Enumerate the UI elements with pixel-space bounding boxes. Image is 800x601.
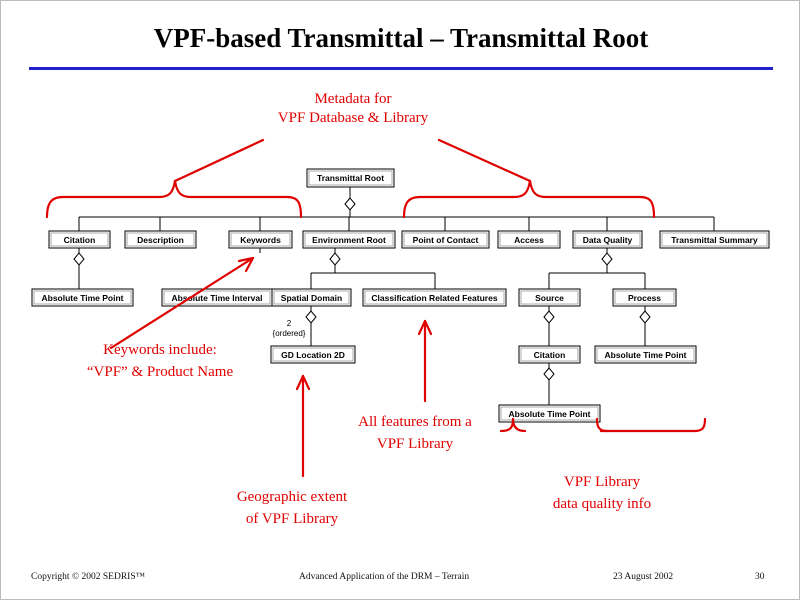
class-box-label: Citation [534,350,566,360]
class-box-label: Citation [64,235,96,245]
multiplicity-constraint: {ordered} [273,329,306,338]
annotation-features-line2: VPF Library [377,436,454,452]
uml-class-diagram: Transmittal Root Citation Description Ke… [1,1,800,601]
annotation-metadata-line1: Metadata for [314,91,391,107]
class-box-absolute-time-point-1[interactable]: Absolute Time Point [32,289,133,306]
footer-center-text: Advanced Application of the DRM – Terrai… [299,572,469,582]
class-box-point-of-contact[interactable]: Point of Contact [402,231,489,248]
footer-copyright: Copyright © 2002 SEDRIS™ [31,572,145,582]
class-box-label: Absolute Time Point [604,350,686,360]
class-box-label: Process [628,293,661,303]
class-box-data-quality[interactable]: Data Quality [573,231,642,248]
class-box-label: Keywords [240,235,281,245]
multiplicity-count: 2 [287,319,292,328]
footer-page-number: 30 [755,572,765,582]
annotation-dataquality-line1: VPF Library [564,474,641,490]
class-box-citation-lower[interactable]: Citation [519,346,580,363]
class-box-label: Environment Root [312,235,386,245]
slide-canvas: VPF-based Transmittal – Transmittal Root [1,1,800,601]
class-box-label: Classification Related Features [371,293,497,303]
class-box-gd-location-2d[interactable]: GD Location 2D [271,346,355,363]
annotation-metadata-line2: VPF Database & Library [278,110,429,126]
class-box-label: Absolute Time Point [508,409,590,419]
class-box-absolute-time-point-3[interactable]: Absolute Time Point [499,405,600,422]
annotation-geographic-line2: of VPF Library [246,511,339,527]
class-box-label: Description [137,235,184,245]
class-box-label: Spatial Domain [281,293,342,303]
class-box-description[interactable]: Description [125,231,196,248]
annotation-features-line1: All features from a [358,414,472,430]
class-box-absolute-time-interval[interactable]: Absolute Time Interval [162,289,272,306]
class-box-label: Access [514,235,544,245]
class-box-transmittal-root[interactable]: Transmittal Root [307,169,394,187]
annotation-geographic-line1: Geographic extent [237,489,348,505]
annotation-keywords-line1: Keywords include: [103,342,217,358]
class-box-transmittal-summary[interactable]: Transmittal Summary [660,231,769,248]
class-box-access[interactable]: Access [498,231,560,248]
class-box-process[interactable]: Process [613,289,676,306]
class-box-label: GD Location 2D [281,350,345,360]
class-box-label: Transmittal Root [317,173,384,183]
class-box-environment-root[interactable]: Environment Root [303,231,395,248]
annotation-dataquality-line2: data quality info [553,496,651,512]
class-box-label: Source [535,293,564,303]
class-box-source[interactable]: Source [519,289,580,306]
class-box-classification-related-features[interactable]: Classification Related Features [363,289,506,306]
annotation-keywords-line2: “VPF” & Product Name [87,364,234,380]
class-box-label: Absolute Time Point [41,293,123,303]
class-box-label: Data Quality [583,235,633,245]
class-box-citation[interactable]: Citation [49,231,110,248]
class-box-label: Transmittal Summary [671,235,758,245]
class-box-keywords[interactable]: Keywords [229,231,292,248]
class-box-spatial-domain[interactable]: Spatial Domain [272,289,351,306]
class-box-absolute-time-point-2[interactable]: Absolute Time Point [595,346,696,363]
class-box-label: Point of Contact [413,235,479,245]
footer-date: 23 August 2002 [613,572,673,582]
